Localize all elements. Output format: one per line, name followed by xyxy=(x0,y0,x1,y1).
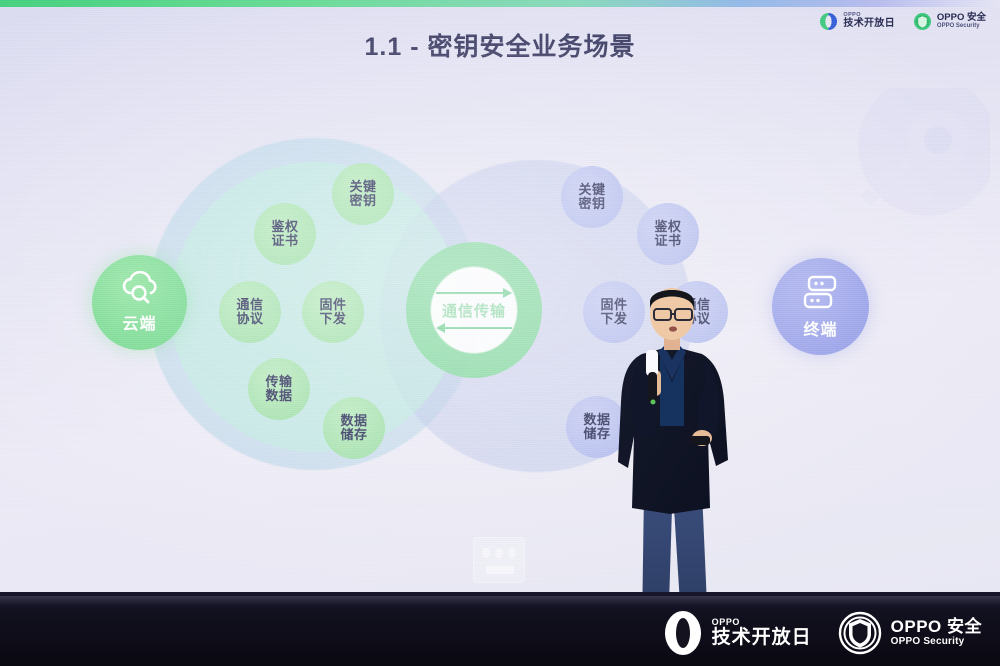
oppo-shield-icon xyxy=(913,12,932,31)
bubble-terminal-0-line2: 密钥 xyxy=(578,197,605,211)
bubble-terminal-1-line2: 证书 xyxy=(654,234,681,248)
bubble-terminal-0-line1: 关键 xyxy=(578,183,605,197)
footer-logo-security: OPPO 安全 OPPO Security xyxy=(838,611,982,655)
bubble-cloud-3-line1: 固件 xyxy=(319,298,346,312)
bubble-cloud-5[interactable]: 数据 储存 xyxy=(323,397,385,459)
stage-scene: 1.1 - 密钥安全业务场景 OPPO 技术开放日 xyxy=(0,0,1000,666)
bubble-cloud-0-line1: 关键 xyxy=(349,180,376,194)
center-transfer-label: 通信传输 xyxy=(442,300,506,321)
bubble-cloud-3-line2: 下发 xyxy=(319,312,346,326)
arrow-right-icon xyxy=(436,288,512,298)
stage-footer-logos: OPPO 技术开放日 OPPO 安全 OPPO Security xyxy=(663,610,982,656)
header-logo-security: OPPO 安全 OPPO Security xyxy=(913,12,986,31)
page-title: 1.1 - 密钥安全业务场景 xyxy=(0,27,1000,63)
bubble-terminal-1-line1: 鉴权 xyxy=(654,220,681,234)
anchor-terminal-label: 终端 xyxy=(803,316,837,340)
footer-logo-security-large: OPPO 安全 xyxy=(891,618,982,636)
wall-socket xyxy=(473,537,525,583)
slide-header-logos: OPPO 技术开放日 OPPO 安全 OPPO Security xyxy=(819,12,986,31)
anchor-terminal[interactable]: 终端 xyxy=(772,258,869,355)
arrow-left-icon xyxy=(436,323,512,333)
key-icon xyxy=(830,88,990,238)
bubble-cloud-4[interactable]: 传输 数据 xyxy=(248,358,310,420)
bubble-cloud-1-line2: 证书 xyxy=(271,234,298,248)
cloud-search-icon xyxy=(118,271,162,307)
server-device-icon xyxy=(800,273,842,313)
header-logo-security-small: OPPO Security xyxy=(937,23,986,29)
bubble-cloud-0[interactable]: 关键 密钥 xyxy=(332,163,394,225)
projection-screen: 1.1 - 密钥安全业务场景 OPPO 技术开放日 xyxy=(0,0,1000,596)
bubble-cloud-3[interactable]: 固件 下发 xyxy=(302,281,364,343)
slide-top-accent-bar xyxy=(0,0,1000,7)
bubble-cloud-4-line1: 传输 xyxy=(265,375,292,389)
header-logo-open-day: OPPO 技术开放日 xyxy=(819,12,895,31)
stage-floor-sheen xyxy=(0,596,1000,606)
header-logo-security-large: OPPO 安全 xyxy=(937,13,986,23)
anchor-cloud[interactable]: 云端 xyxy=(92,255,187,350)
bubble-cloud-2[interactable]: 通信 协议 xyxy=(219,281,281,343)
bubble-cloud-1-line1: 鉴权 xyxy=(271,220,298,234)
bubble-cloud-0-line2: 密钥 xyxy=(349,194,376,208)
footer-logo-open-day: OPPO 技术开放日 xyxy=(663,610,812,656)
bubble-cloud-5-line2: 储存 xyxy=(340,428,367,442)
bubble-cloud-5-line1: 数据 xyxy=(340,414,367,428)
bubble-cloud-1[interactable]: 鉴权 证书 xyxy=(254,203,316,265)
oppo-o-ring-icon xyxy=(819,12,838,31)
footer-logo-open-day-large: 技术开放日 xyxy=(712,628,812,649)
bubble-terminal-1[interactable]: 鉴权 证书 xyxy=(637,203,699,265)
bubble-cloud-2-line2: 协议 xyxy=(236,312,263,326)
header-logo-open-day-large: 技术开放日 xyxy=(843,19,895,30)
anchor-cloud-label: 云端 xyxy=(122,310,156,334)
bubble-cloud-4-line2: 数据 xyxy=(265,389,292,403)
bubble-cloud-2-line1: 通信 xyxy=(236,298,263,312)
footer-logo-security-small: OPPO Security xyxy=(891,637,982,648)
oppo-o-logo-icon xyxy=(663,610,703,656)
bubble-terminal-0[interactable]: 关键 密钥 xyxy=(561,166,623,228)
center-transfer-content[interactable]: 通信传输 xyxy=(406,242,542,378)
oppo-shield-logo-icon xyxy=(838,611,882,655)
